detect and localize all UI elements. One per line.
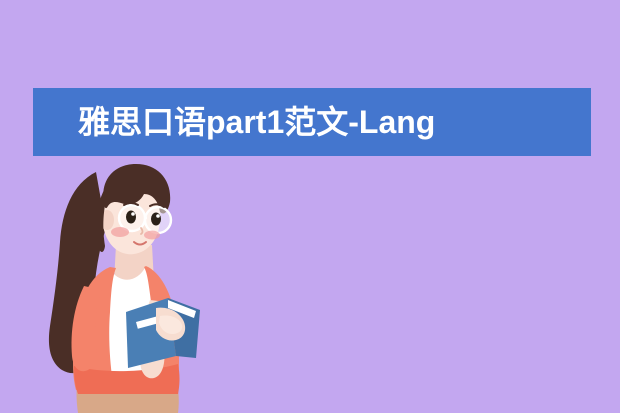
woman-reading-book-illustration <box>0 150 260 413</box>
title-banner: 雅思口语part1范文-Lang <box>33 88 591 156</box>
right-eye-icon <box>151 213 161 226</box>
right-blush-icon <box>144 231 160 240</box>
left-blush-icon <box>111 227 129 237</box>
left-eye-highlight-icon <box>131 212 135 216</box>
right-eye-highlight-icon <box>156 214 160 218</box>
left-eye-icon <box>126 211 136 224</box>
image-canvas: 雅思口语part1范文-Lang <box>0 0 620 413</box>
page-title: 雅思口语part1范文-Lang <box>78 106 435 138</box>
